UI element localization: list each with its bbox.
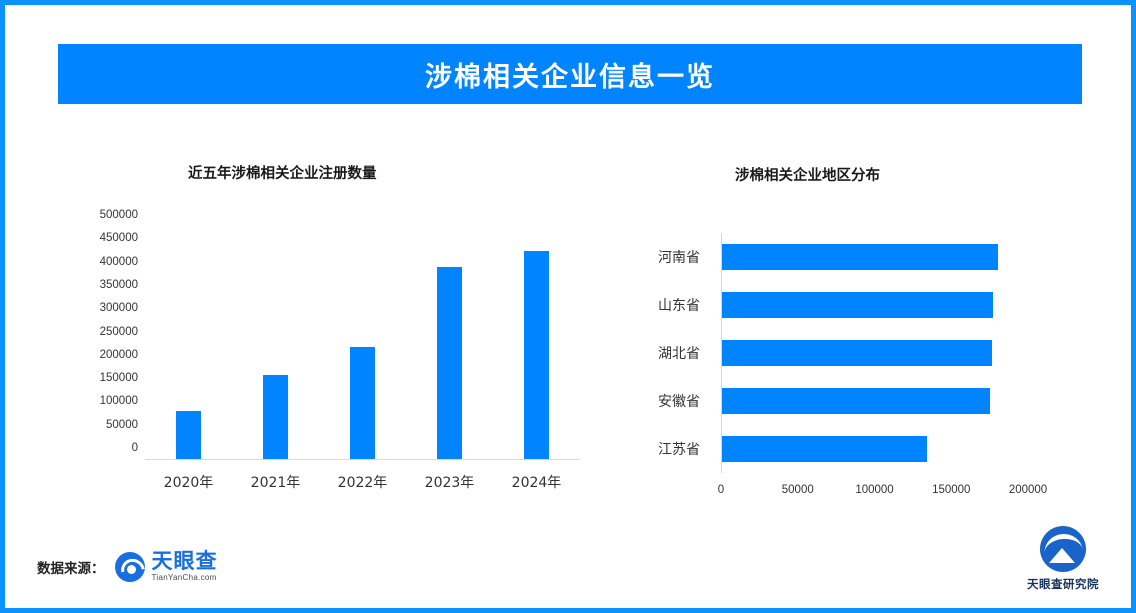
horizontal-bar: 江苏省 — [722, 436, 927, 462]
horizontal-chart-x-tick: 50000 — [782, 484, 814, 496]
vertical-chart-x-label: 2020年 — [146, 472, 232, 492]
vertical-bar — [350, 347, 375, 459]
header-banner: 涉棉相关企业信息一览 — [58, 44, 1082, 104]
right-chart-title: 涉棉相关企业地区分布 — [735, 164, 880, 185]
horizontal-chart-x-tick: 0 — [718, 484, 724, 496]
institute-name: 天眼查研究院 — [1027, 576, 1099, 592]
tianyancha-eye-icon — [115, 552, 145, 582]
horizontal-bar-plot-area: 050000100000150000200000河南省山东省湖北省安徽省江苏省 — [721, 233, 1028, 473]
horizontal-chart-x-tick: 100000 — [855, 484, 893, 496]
vertical-bar — [263, 375, 288, 459]
horizontal-bar: 湖北省 — [722, 340, 992, 366]
vertical-bar — [524, 251, 549, 459]
vertical-chart-y-tick: 150000 — [100, 372, 138, 384]
horizontal-bar: 山东省 — [722, 292, 993, 318]
tianyancha-name-en: TianYanCha.com — [152, 574, 218, 582]
vertical-chart-y-tick: 300000 — [100, 302, 138, 314]
registration-count-chart-panel: 近五年涉棉相关企业注册数量 05000010000015000020000025… — [60, 145, 580, 515]
horizontal-bar-fill — [722, 292, 993, 318]
vertical-bar-plot-area: 0500001000001500002000002500003000003500… — [145, 227, 580, 460]
source-label: 数据来源： — [37, 557, 105, 577]
horizontal-chart-category-label: 河南省 — [658, 247, 700, 267]
tianyancha-logo: 天眼查 TianYanCha.com — [115, 551, 218, 582]
vertical-chart-y-tick: 50000 — [106, 419, 138, 431]
horizontal-chart-x-tick: 150000 — [932, 484, 970, 496]
horizontal-bar-fill — [722, 436, 927, 462]
horizontal-bar-fill — [722, 388, 990, 414]
vertical-chart-x-label: 2023年 — [407, 472, 493, 492]
vertical-chart-y-tick: 250000 — [100, 326, 138, 338]
page-frame: 涉棉相关企业信息一览 近五年涉棉相关企业注册数量 050000100000150… — [0, 0, 1136, 613]
vertical-chart-y-tick: 0 — [132, 442, 138, 454]
vertical-chart-y-tick: 450000 — [100, 232, 138, 244]
horizontal-chart-x-tick: 200000 — [1009, 484, 1047, 496]
vertical-chart-y-tick: 100000 — [100, 395, 138, 407]
horizontal-chart-category-label: 安徽省 — [658, 391, 700, 411]
institute-logo: 天眼查研究院 — [1027, 526, 1099, 592]
region-distribution-chart-panel: 涉棉相关企业地区分布 050000100000150000200000河南省山东… — [595, 145, 1085, 515]
horizontal-bar: 安徽省 — [722, 388, 990, 414]
horizontal-bar: 河南省 — [722, 244, 998, 270]
horizontal-bar-fill — [722, 244, 998, 270]
horizontal-bar-fill — [722, 340, 992, 366]
vertical-bar — [176, 411, 201, 459]
vertical-chart-y-tick: 200000 — [100, 349, 138, 361]
vertical-bar — [437, 267, 462, 459]
horizontal-chart-category-label: 江苏省 — [658, 439, 700, 459]
tianyancha-name-cn: 天眼查 — [152, 551, 218, 572]
vertical-chart-y-tick: 400000 — [100, 256, 138, 268]
institute-mountain-icon — [1040, 526, 1086, 572]
horizontal-chart-category-label: 湖北省 — [658, 343, 700, 363]
tianyancha-wordmark: 天眼查 TianYanCha.com — [152, 551, 218, 582]
page-title: 涉棉相关企业信息一览 — [425, 55, 715, 94]
vertical-chart-x-label: 2021年 — [233, 472, 319, 492]
vertical-chart-y-tick: 350000 — [100, 279, 138, 291]
horizontal-chart-category-label: 山东省 — [658, 295, 700, 315]
vertical-chart-x-label: 2022年 — [320, 472, 406, 492]
left-chart-title: 近五年涉棉相关企业注册数量 — [188, 162, 377, 183]
vertical-chart-baseline — [145, 459, 580, 460]
vertical-chart-x-label: 2024年 — [494, 472, 580, 492]
vertical-chart-y-tick: 500000 — [100, 209, 138, 221]
data-source-footer: 数据来源： 天眼查 TianYanCha.com — [37, 551, 218, 582]
